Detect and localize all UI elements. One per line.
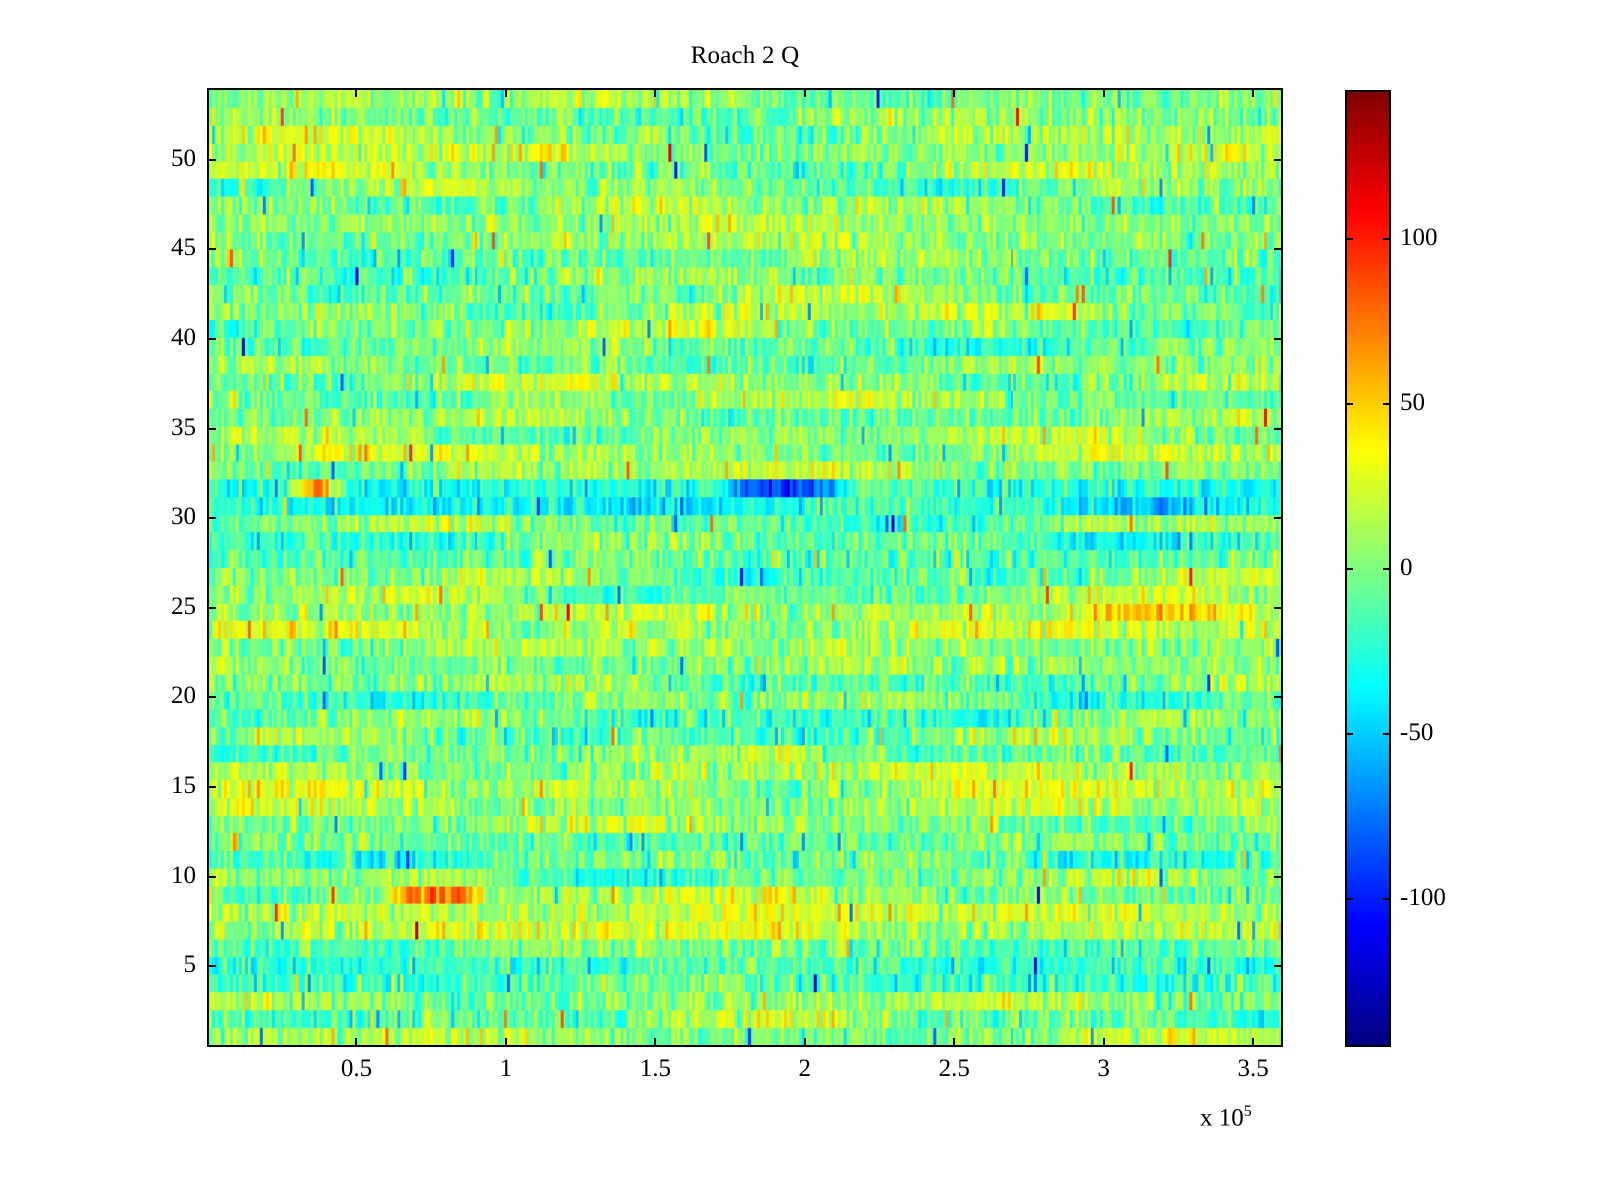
- y-axis-tick: [207, 607, 216, 609]
- x-axis-tick: [355, 1038, 357, 1047]
- colorbar-tick: [1345, 898, 1353, 900]
- page-title: Roach 2 Q: [0, 42, 1490, 70]
- y-axis-tick: [207, 965, 216, 967]
- x-axis-tick: [355, 88, 357, 97]
- y-axis-tick: [1274, 696, 1283, 698]
- colorbar-tick: [1345, 568, 1353, 570]
- x-axis-tick: [1103, 88, 1105, 97]
- y-axis-tick-label: 15: [171, 773, 196, 798]
- x-axis-tick: [953, 1038, 955, 1047]
- y-axis-tick: [1274, 965, 1283, 967]
- x-axis-tick-label: 3: [1044, 1056, 1164, 1081]
- y-axis-tick: [207, 428, 216, 430]
- x-axis-tick-label: 0.5: [296, 1056, 416, 1081]
- colorbar-tick: [1383, 898, 1391, 900]
- y-axis-tick: [207, 696, 216, 698]
- y-axis-tick: [1274, 786, 1283, 788]
- x-axis-exponent-label: x 105: [1200, 1103, 1252, 1132]
- y-axis-tick-label: 50: [171, 146, 196, 171]
- y-axis-tick: [1274, 517, 1283, 519]
- colorbar-tick-label: 50: [1400, 390, 1425, 415]
- x-axis-tick: [804, 88, 806, 97]
- colorbar-tick: [1383, 403, 1391, 405]
- colorbar-tick-label: 100: [1400, 225, 1438, 250]
- colorbar-tick: [1345, 238, 1353, 240]
- y-axis-tick: [207, 876, 216, 878]
- x-axis-tick-label: 1: [446, 1056, 566, 1081]
- x-axis-tick-label: 1.5: [595, 1056, 715, 1081]
- y-axis-tick-label: 10: [171, 863, 196, 888]
- y-axis-tick: [1274, 428, 1283, 430]
- y-axis-tick: [207, 248, 216, 250]
- x-axis-tick-label: 3.5: [1193, 1056, 1313, 1081]
- y-axis-tick: [207, 786, 216, 788]
- colorbar-tick: [1383, 238, 1391, 240]
- colorbar-tick-label: 0: [1400, 555, 1413, 580]
- y-axis-tick-label: 45: [171, 235, 196, 260]
- x-axis-tick-label: 2.5: [894, 1056, 1014, 1081]
- y-axis-tick: [1274, 159, 1283, 161]
- y-axis-tick-label: 25: [171, 594, 196, 619]
- y-axis-tick-label: 30: [171, 504, 196, 529]
- x-axis-tick: [505, 1038, 507, 1047]
- x-axis-tick: [654, 1038, 656, 1047]
- x-exponent-power: 5: [1244, 1103, 1252, 1120]
- y-axis-tick: [207, 338, 216, 340]
- y-axis-tick: [1274, 876, 1283, 878]
- y-axis-tick: [1274, 338, 1283, 340]
- x-axis-tick-label: 2: [745, 1056, 865, 1081]
- y-axis-tick: [1274, 248, 1283, 250]
- colorbar-tick: [1345, 403, 1353, 405]
- heatmap-image: [209, 90, 1281, 1045]
- y-axis-tick-label: 5: [184, 952, 197, 977]
- colorbar-tick-label: -50: [1400, 720, 1433, 745]
- y-axis-tick: [207, 159, 216, 161]
- colorbar-tick: [1345, 733, 1353, 735]
- colorbar-tick-label: -100: [1400, 885, 1446, 910]
- x-axis-tick: [1252, 88, 1254, 97]
- x-axis-tick: [654, 88, 656, 97]
- x-axis-tick: [505, 88, 507, 97]
- y-axis-tick: [207, 517, 216, 519]
- x-axis-tick: [804, 1038, 806, 1047]
- y-axis-tick-label: 20: [171, 683, 196, 708]
- heatmap-plot-area[interactable]: [207, 88, 1283, 1047]
- x-axis-tick: [1252, 1038, 1254, 1047]
- matlab-figure: Roach 2 Q 51015202530354045500.511.522.5…: [0, 0, 1600, 1200]
- y-axis-tick-label: 35: [171, 415, 196, 440]
- x-exponent-base: x 10: [1200, 1104, 1244, 1131]
- x-axis-tick: [1103, 1038, 1105, 1047]
- y-axis-tick: [1274, 607, 1283, 609]
- colorbar-tick: [1383, 568, 1391, 570]
- colorbar-tick: [1383, 733, 1391, 735]
- y-axis-tick-label: 40: [171, 325, 196, 350]
- x-axis-tick: [953, 88, 955, 97]
